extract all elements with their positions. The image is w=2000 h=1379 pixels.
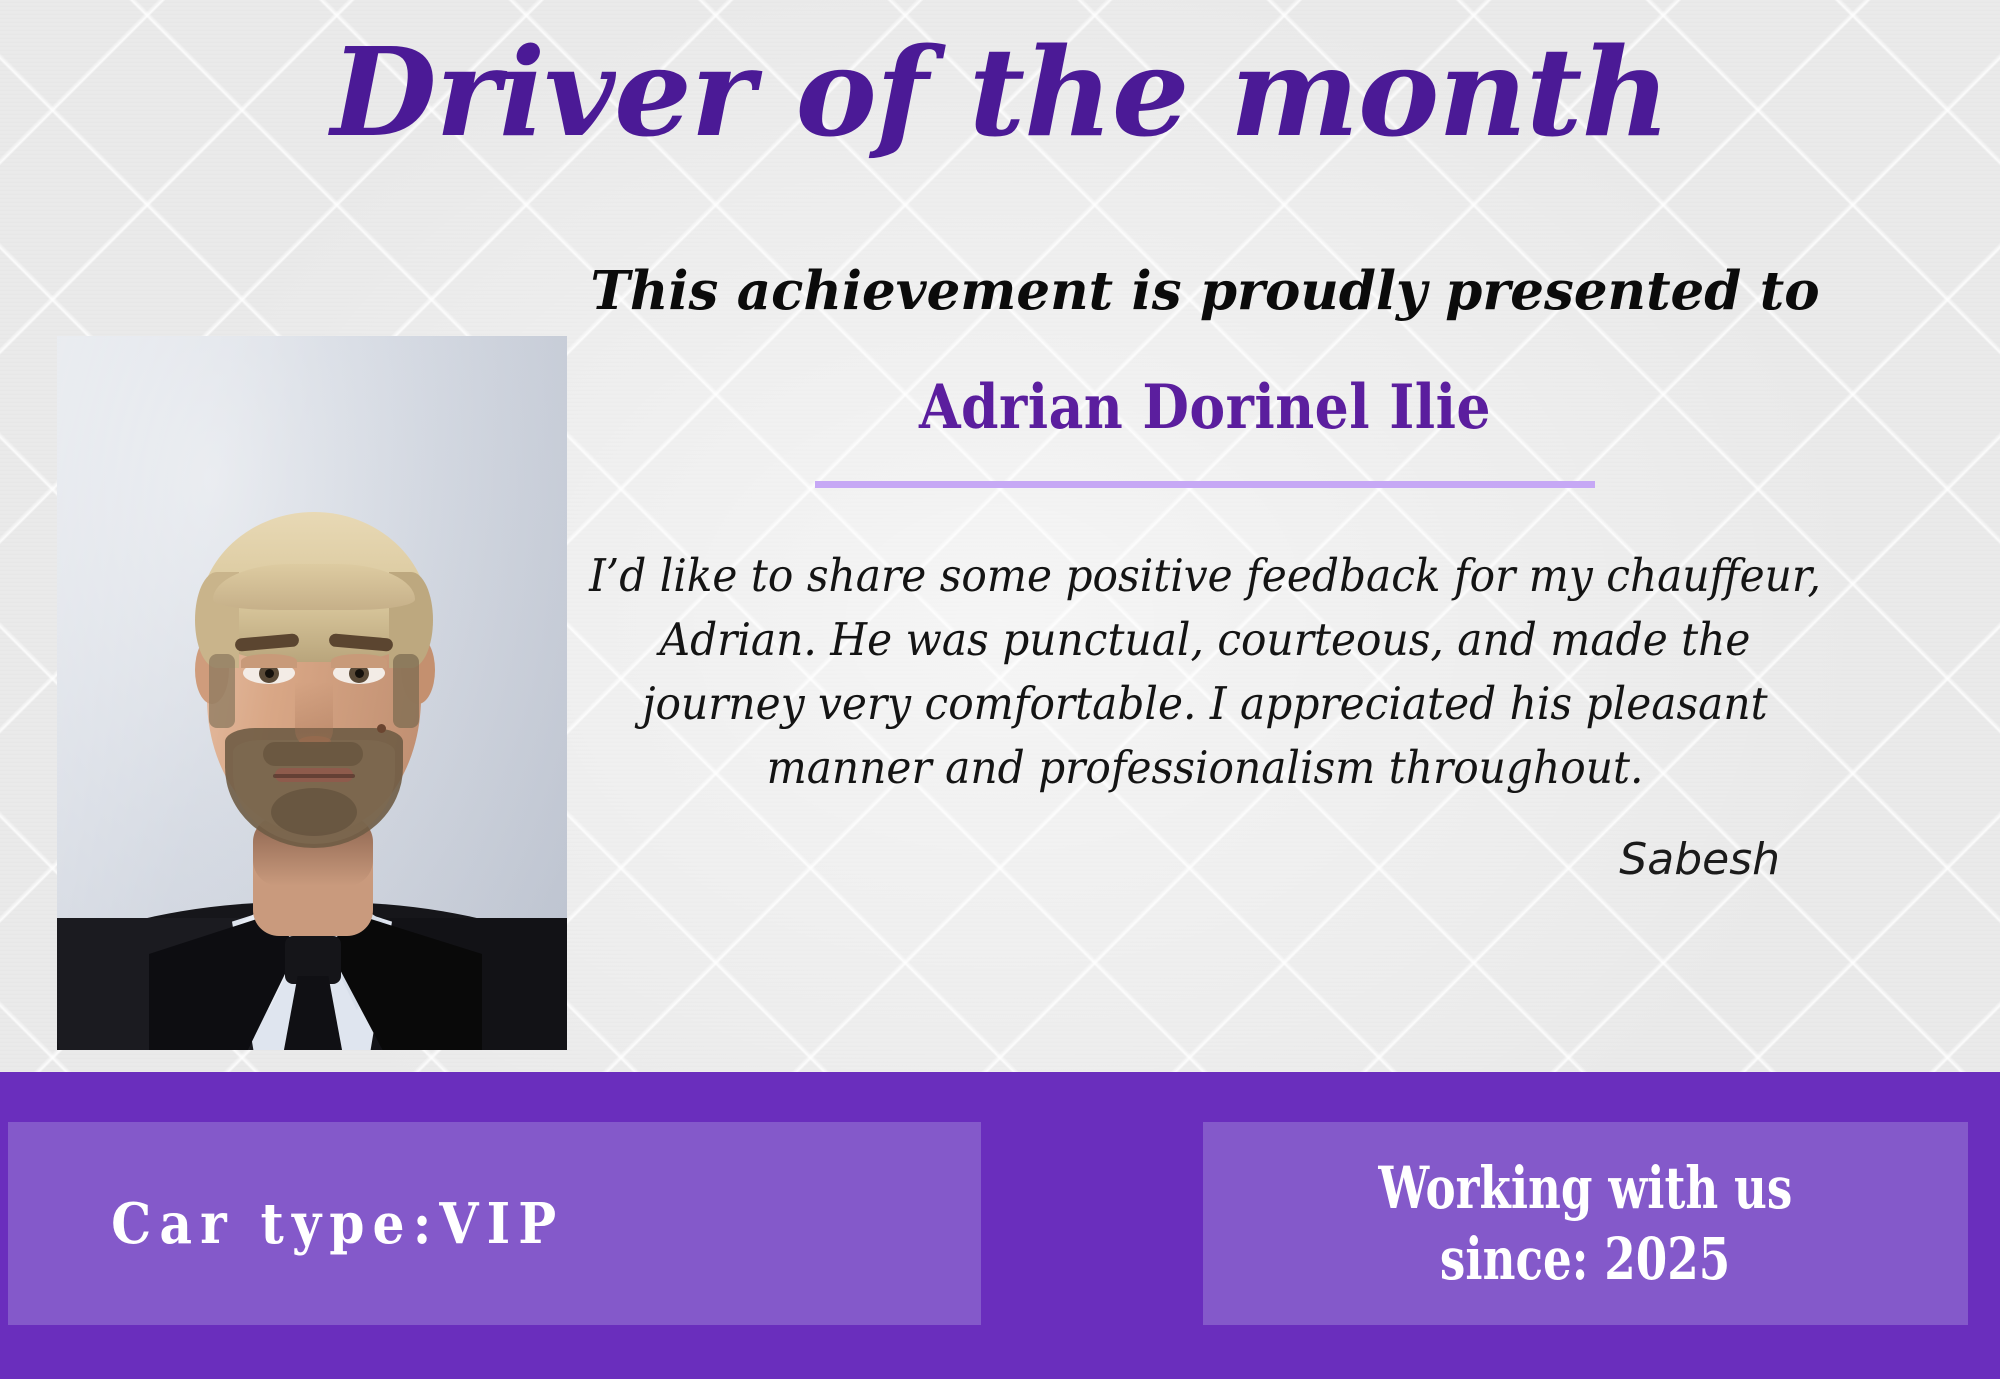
- sideburn-left: [209, 654, 235, 728]
- testimonial-line-2: Adrian. He was punctual, courteous, and …: [505, 608, 1906, 672]
- eyelid-right: [331, 654, 387, 668]
- eyelid-left: [241, 654, 297, 668]
- name-divider: [815, 481, 1595, 488]
- footer-banner: Car type:VIP Working with us since: 2025: [0, 1072, 2000, 1379]
- chin-beard: [271, 788, 357, 836]
- car-type-tile: Car type:VIP: [8, 1122, 981, 1325]
- car-type-label: Car type:VIP: [111, 1191, 564, 1257]
- working-since-tile: Working with us since: 2025: [1203, 1122, 1968, 1325]
- presented-to-subtitle: This achievement is proudly presented to: [460, 262, 1950, 320]
- pupil-right: [355, 669, 364, 678]
- working-since-line-2: since: 2025: [1440, 1224, 1730, 1295]
- working-since-line-1: Working with us: [1379, 1153, 1793, 1224]
- recipient-name: Adrian Dorinel Ilie: [549, 372, 1860, 443]
- driver-of-the-month-certificate: Driver of the month: [0, 0, 2000, 1379]
- moustache: [263, 742, 363, 766]
- page-title: Driver of the month: [0, 28, 2000, 156]
- hair-fringe: [213, 564, 415, 610]
- testimonial-author: Sabesh: [460, 834, 1950, 885]
- pupil-left: [265, 669, 274, 678]
- testimonial-text: I’d like to share some positive feedback…: [505, 544, 1906, 800]
- certificate-body: This achievement is proudly presented to…: [460, 262, 1950, 885]
- facial-mole: [377, 724, 386, 733]
- testimonial-line-3: journey very comfortable. I appreciated …: [505, 672, 1906, 736]
- testimonial-line-4: manner and professionalism throughout.: [505, 736, 1906, 800]
- testimonial-line-1: I’d like to share some positive feedback…: [505, 544, 1906, 608]
- sideburn-right: [393, 654, 419, 728]
- mouth-line: [273, 774, 355, 778]
